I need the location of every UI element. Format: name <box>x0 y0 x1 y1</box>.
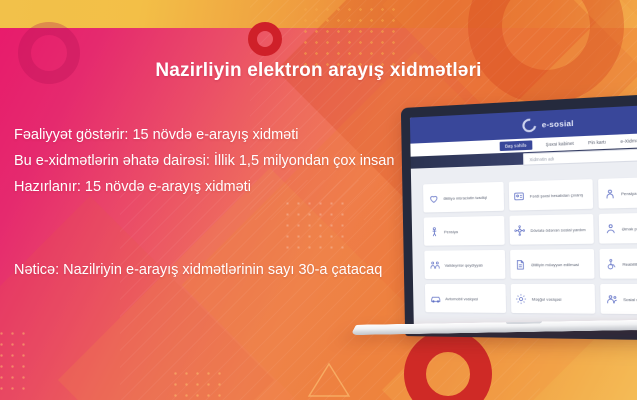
service-card[interactable]: Məşğul vəsiqəsi <box>510 284 595 314</box>
service-card[interactable]: Əlilliyin müəyyən edilməsi <box>510 249 595 279</box>
dot-grid-bottom <box>170 368 226 400</box>
laptop-lid: e-sosial Baş səhifə Şəxsi kabinet Pin ka… <box>401 91 637 341</box>
laptop-screen: e-sosial Baş səhifə Şəxsi kabinet Pin ka… <box>410 103 637 331</box>
person-icon <box>603 187 617 200</box>
nav-item-pin-karti[interactable]: Pin kartı <box>588 139 606 145</box>
people-icon <box>605 292 619 305</box>
hand-coin-icon <box>604 222 618 235</box>
page-title: Nazirliyin elektron arayış xidmətləri <box>0 60 637 82</box>
swirl-circle-icon <box>520 115 539 134</box>
service-card-label: Reabilitasiya <box>622 261 637 267</box>
wheelchair-icon <box>604 257 618 270</box>
presentation-slide: Nazirliyin elektron arayış xidmətləri Fə… <box>0 0 637 400</box>
service-card-label: Əlilliyin müəyyən edilməsi <box>531 261 579 267</box>
service-card-label: Valideynlər qeydiyyatı <box>445 262 483 267</box>
service-card[interactable]: Pensiya təyinatı <box>598 176 637 208</box>
service-card[interactable]: Dövlətə ödənən sosial yardım <box>509 214 594 245</box>
dot-grid-bottom-left <box>0 328 32 390</box>
document-icon <box>514 258 527 271</box>
triangle-outline-icon <box>306 360 352 400</box>
service-card-label: Əlilliyə müraciətin təsdiqi <box>443 194 487 200</box>
family-icon <box>428 259 440 271</box>
hands-heart-icon <box>427 192 439 204</box>
nav-item-sexsi-kabinet[interactable]: Şəxsi kabinet <box>546 141 574 147</box>
service-card[interactable]: Sosial müavinət <box>601 284 637 315</box>
conclusion-text: Nəticə: Nazilriyin e-arayış xidmətlərini… <box>14 262 382 278</box>
service-card-label: Əmək pensiyası <box>622 225 637 231</box>
search-placeholder: Xidmətin adı <box>529 156 554 162</box>
service-card-label: Sosial müavinət <box>623 296 637 302</box>
laptop-base-notch <box>505 322 541 324</box>
service-card[interactable]: Fərdi şəxsi hesabdan çıxarış <box>508 179 593 211</box>
service-card[interactable]: Əmək pensiyası <box>599 212 637 244</box>
car-icon <box>429 292 441 304</box>
id-card-icon <box>513 189 526 202</box>
dot-grid-top <box>300 4 400 66</box>
services-grid: Əlilliyə müraciətin təsdiqi Fərdi şəxsi … <box>423 176 637 314</box>
service-card-label: Fərdi şəxsi hesabdan çıxarış <box>530 192 584 199</box>
gear-person-icon <box>515 292 528 305</box>
service-card-label: Pensiya <box>444 229 458 234</box>
site-logo-text: e-sosial <box>542 118 574 129</box>
nav-item-bas-sehife[interactable]: Baş səhifə <box>500 140 532 151</box>
nav-item-e-xidmetler[interactable]: e-Xidmətlər <box>620 138 637 144</box>
services-content: Bütün xidmətlər Əlilliyə müraciətin təsd… <box>411 159 637 331</box>
service-card[interactable]: Reabilitasiya <box>600 248 637 279</box>
service-card-label: Pensiya təyinatı <box>621 190 637 196</box>
service-card[interactable]: Pensiya <box>424 216 505 246</box>
service-card[interactable]: Valideynlər qeydiyyatı <box>424 250 505 279</box>
service-card[interactable]: Əlilliyə müraciətin təsdiqi <box>423 182 504 213</box>
service-card-label: Avtomobil vəsiqəsi <box>445 296 478 301</box>
ring-decor-title <box>248 22 282 56</box>
dot-grid-middle <box>282 198 346 252</box>
service-card-label: Dövlətə ödənən sosial yardım <box>530 226 585 232</box>
service-card-label: Məşğul vəsiqəsi <box>532 296 562 301</box>
person-stand-icon <box>428 225 440 237</box>
service-card[interactable]: Avtomobil vəsiqəsi <box>425 284 506 313</box>
laptop-mockup: e-sosial Baş səhifə Şəxsi kabinet Pin ka… <box>395 108 637 348</box>
network-icon <box>513 224 526 237</box>
